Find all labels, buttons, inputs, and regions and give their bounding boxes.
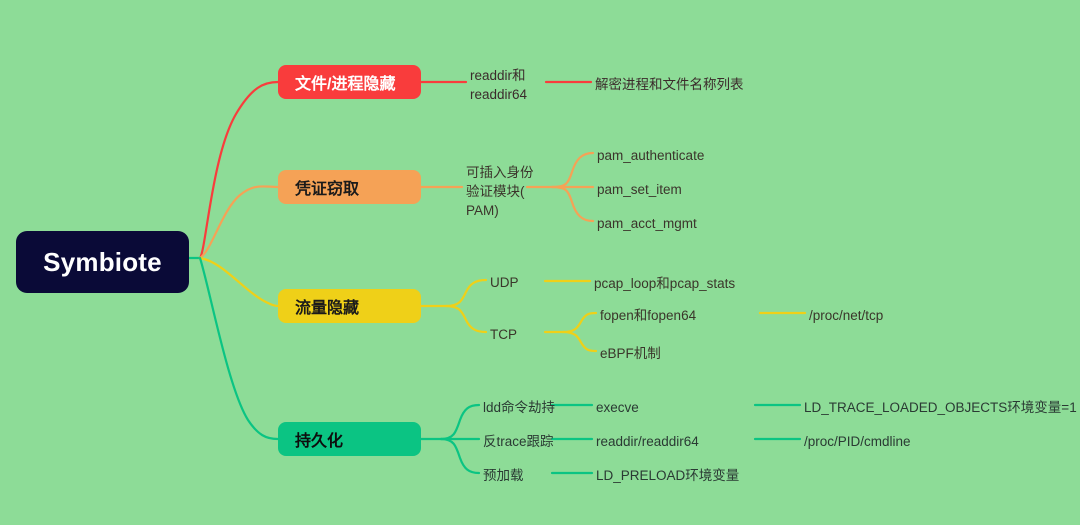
branch-node-file-process-hiding[interactable]: 文件/进程隐藏 — [278, 65, 421, 99]
branch-label-file-process-hiding: 文件/进程隐藏 — [295, 70, 395, 94]
leaf-readdir-family[interactable]: readdir和 readdir64 — [470, 66, 527, 104]
leaf-ld-preload-env[interactable]: LD_PRELOAD环境变量 — [596, 466, 739, 485]
leaf-fopen-family[interactable]: fopen和fopen64 — [600, 306, 696, 325]
leaf-pam-authenticate[interactable]: pam_authenticate — [597, 146, 704, 165]
leaf-pam-acct-mgmt[interactable]: pam_acct_mgmt — [597, 214, 697, 233]
connector-traffic-to-udp — [446, 280, 486, 306]
connector-traffic-to-tcp — [446, 306, 486, 332]
branch-node-credential-theft[interactable]: 凭证窃取 — [278, 170, 421, 204]
leaf-ebpf-mechanism[interactable]: eBPF机制 — [600, 344, 661, 363]
leaf-pam-set-item[interactable]: pam_set_item — [597, 180, 682, 199]
leaf-udp[interactable]: UDP — [490, 273, 519, 292]
connector-root-to-credential-theft — [200, 186, 278, 258]
branch-label-persistence: 持久化 — [295, 427, 343, 451]
branch-node-traffic-hiding[interactable]: 流量隐藏 — [278, 289, 421, 323]
leaf-pam-module[interactable]: 可插入身份 验证模块( PAM) — [466, 163, 534, 220]
connector-pam-to-authenticate — [552, 153, 593, 187]
leaf-ld-trace-loaded-objects-env[interactable]: LD_TRACE_LOADED_OBJECTS环境变量=1 — [804, 398, 1077, 417]
leaf-tcp[interactable]: TCP — [490, 325, 517, 344]
connector-persistence-to-ldd — [441, 405, 479, 439]
leaf-readdir-readdir64[interactable]: readdir/readdir64 — [596, 432, 699, 451]
branch-label-credential-theft: 凭证窃取 — [295, 175, 359, 199]
leaf-execve[interactable]: execve — [596, 398, 639, 417]
connector-root-to-file-hiding — [200, 82, 278, 258]
leaf-anti-trace[interactable]: 反trace跟踪 — [483, 432, 554, 451]
leaf-proc-net-tcp[interactable]: /proc/net/tcp — [809, 306, 883, 325]
connector-pam-to-acct-mgmt — [552, 187, 593, 221]
connector-root-to-persistence — [200, 258, 278, 439]
connector-tcp-to-ebpf — [563, 332, 596, 351]
branch-label-traffic-hiding: 流量隐藏 — [295, 294, 359, 318]
root-node-label: Symbiote — [43, 247, 162, 278]
leaf-preload[interactable]: 预加载 — [483, 466, 524, 485]
leaf-decrypt-process-file-list[interactable]: 解密进程和文件名称列表 — [595, 75, 744, 94]
connector-persistence-to-preload — [441, 439, 479, 473]
branch-node-persistence[interactable]: 持久化 — [278, 422, 421, 456]
mindmap-canvas: Symbiote 文件/进程隐藏 凭证窃取 流量隐藏 持久化 readdir和 … — [0, 0, 1080, 525]
connector-tcp-to-fopen — [563, 313, 596, 332]
root-node[interactable]: Symbiote — [16, 231, 189, 293]
leaf-ldd-command-hijack[interactable]: ldd命令劫持 — [483, 398, 555, 417]
connector-root-to-traffic-hiding — [200, 258, 278, 306]
leaf-pcap-loop-stats[interactable]: pcap_loop和pcap_stats — [594, 274, 735, 293]
leaf-proc-pid-cmdline[interactable]: /proc/PID/cmdline — [804, 432, 911, 451]
